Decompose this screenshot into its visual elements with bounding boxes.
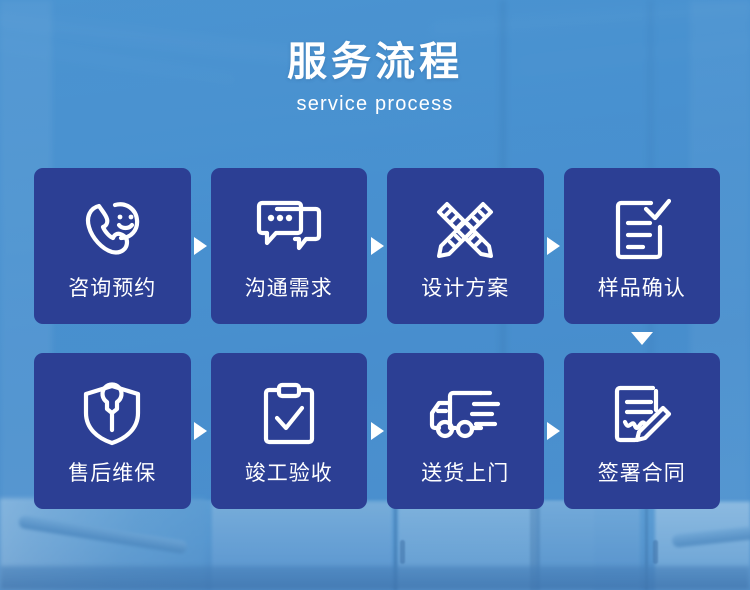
- process-flow-grid: 咨询预约 沟通需求: [34, 168, 720, 509]
- process-row-2: 售后维保 竣工验收: [34, 353, 720, 509]
- page-subtitle: service process: [0, 92, 750, 116]
- contract-sign-icon: [604, 379, 680, 449]
- process-step-aftersales[interactable]: 售后维保: [34, 353, 191, 509]
- shield-wrench-icon: [74, 379, 150, 449]
- process-step-sample-confirm[interactable]: 样品确认: [564, 168, 721, 324]
- process-row-1: 咨询预约 沟通需求: [34, 168, 720, 324]
- pencil-ruler-icon: [427, 194, 503, 264]
- page-title: 服务流程: [0, 38, 750, 86]
- triangle-right-icon: [191, 353, 211, 509]
- process-step-label: 咨询预约: [68, 276, 156, 302]
- service-process-banner: 服务流程 service process 咨询预约: [0, 0, 750, 590]
- process-step-design[interactable]: 设计方案: [387, 168, 544, 324]
- process-step-consult[interactable]: 咨询预约: [34, 168, 191, 324]
- triangle-down-icon: [629, 329, 655, 347]
- process-step-sign-contract[interactable]: 签署合同: [564, 353, 721, 509]
- delivery-truck-icon: [427, 379, 503, 449]
- triangle-right-icon: [544, 168, 564, 324]
- triangle-right-icon: [191, 168, 211, 324]
- chat-bubbles-icon: [251, 194, 327, 264]
- document-check-icon: [604, 194, 680, 264]
- process-step-communicate[interactable]: 沟通需求: [211, 168, 368, 324]
- process-step-label: 竣工验收: [245, 461, 333, 487]
- process-step-label: 签署合同: [598, 461, 686, 487]
- process-step-delivery[interactable]: 送货上门: [387, 353, 544, 509]
- triangle-right-icon: [367, 168, 387, 324]
- phone-smiley-icon: [74, 194, 150, 264]
- banner-header: 服务流程 service process: [0, 38, 750, 116]
- process-step-label: 设计方案: [421, 276, 509, 302]
- process-step-label: 沟通需求: [245, 276, 333, 302]
- clipboard-check-icon: [251, 379, 327, 449]
- process-step-label: 售后维保: [68, 461, 156, 487]
- process-step-label: 样品确认: [598, 276, 686, 302]
- process-step-label: 送货上门: [421, 461, 509, 487]
- triangle-right-icon: [367, 353, 387, 509]
- triangle-right-icon: [544, 353, 564, 509]
- process-step-acceptance[interactable]: 竣工验收: [211, 353, 368, 509]
